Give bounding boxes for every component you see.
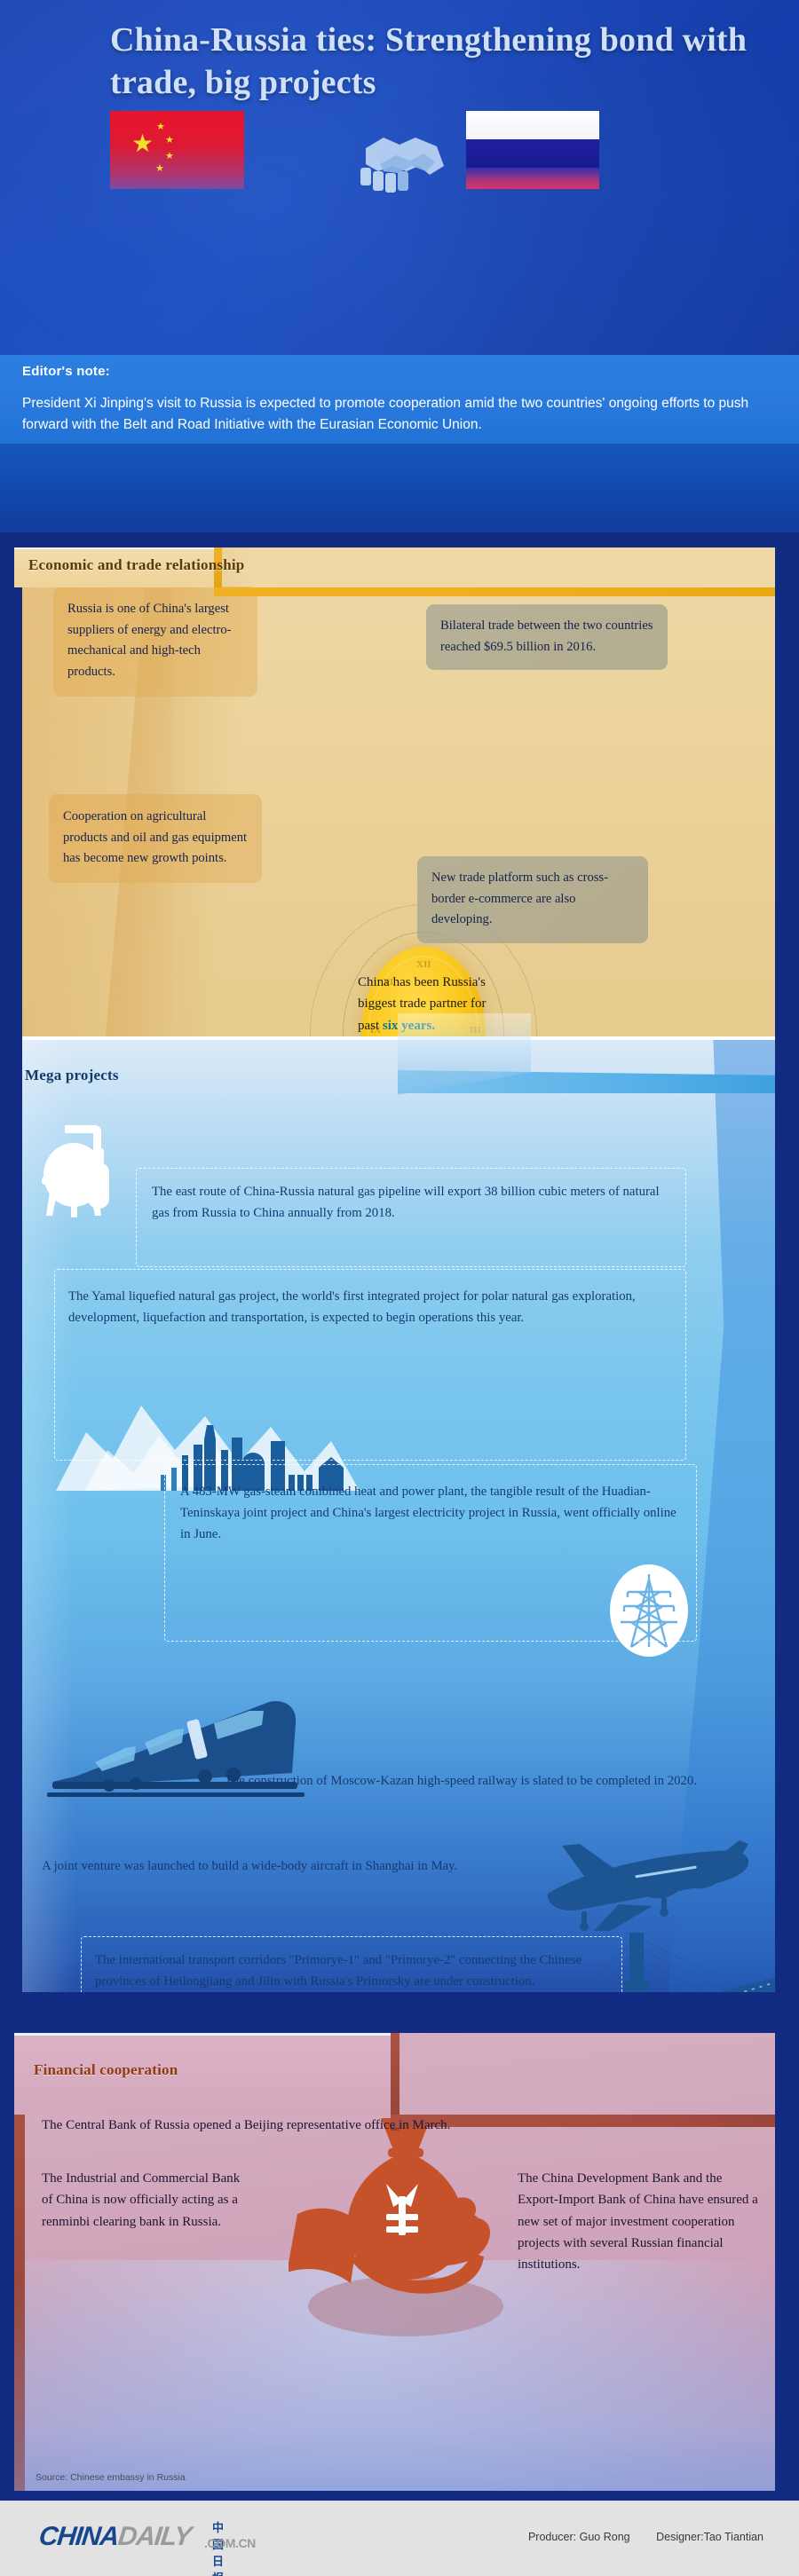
economic-section: XII I III V VI VII IX XI China has been … [22, 547, 775, 1038]
russia-flag [466, 111, 599, 189]
china-flag: ★★★★★ [110, 111, 244, 189]
credit-designer: Designer:Tao Tiantian [656, 2531, 763, 2543]
credit-producer: Producer: Guo Rong [528, 2531, 630, 2543]
page-title: China-Russia ties: Strengthening bond wi… [110, 20, 749, 104]
mega-item-yamal-lng: The Yamal liquefied natural gas project,… [68, 1287, 681, 1329]
financial-left-text: The Industrial and Commercial Bank of Ch… [42, 2168, 246, 2233]
credits: Producer: Guo Rong Designer:Tao Tiantian [505, 2531, 763, 2543]
airplane-icon [528, 1839, 768, 1941]
logo-domain: .COM.CN [204, 2536, 256, 2550]
mega-heading: Mega projects [25, 1067, 119, 1084]
gas-tank-icon [38, 1111, 145, 1231]
mega-item-railway: The construction of Moscow-Kazan high-sp… [173, 1771, 697, 1792]
economic-tab-bar [214, 587, 775, 596]
editor-note-body: President Xi Jinping's visit to Russia i… [22, 393, 768, 437]
logo-daily: DAILY [116, 2522, 192, 2552]
mega-item-aircraft: A joint venture was launched to build a … [42, 1856, 486, 1878]
bubble-bilateral-trade: Bilateral trade between the two countrie… [426, 604, 668, 670]
logo-china: CHINA [37, 2522, 120, 2552]
bubble-suppliers: Russia is one of China's largest supplie… [53, 587, 257, 697]
handshake-icon [344, 116, 469, 194]
source-note: Source: Chinese embassy in Russia [36, 2472, 186, 2483]
bubble-cooperation: Cooperation on agricultural products and… [49, 794, 262, 883]
financial-lead-text: The Central Bank of Russia opened a Beij… [42, 2115, 752, 2136]
mega-projects-section: The east route of China-Russia natural g… [22, 1040, 775, 1992]
chinadaily-logo[interactable]: CHINADAILY 中国日报网 .COM.CN [39, 2522, 191, 2554]
financial-heading: Financial cooperation [34, 2061, 178, 2079]
flags-row: ★★★★★ [0, 111, 799, 191]
bubble-new-platform: New trade platform such as cross-border … [417, 856, 648, 943]
financial-right-text: The China Development Bank and the Expor… [518, 2168, 759, 2275]
editor-note-label: Editor's note: [22, 364, 110, 379]
mega-item-power-plant: A 483-MW gas-steam combined heat and pow… [180, 1482, 686, 1546]
hero-banner: China-Russia ties: Strengthening bond wi… [0, 0, 799, 355]
money-bag-hand-icon [289, 2104, 519, 2348]
infographic-page: China-Russia ties: Strengthening bond wi… [0, 0, 799, 2576]
mega-item-gas-pipeline: The east route of China-Russia natural g… [152, 1182, 676, 1225]
mega-item-corridors: The international transport corridors "P… [95, 1950, 610, 1992]
economic-heading: Economic and trade relationship [28, 556, 244, 574]
